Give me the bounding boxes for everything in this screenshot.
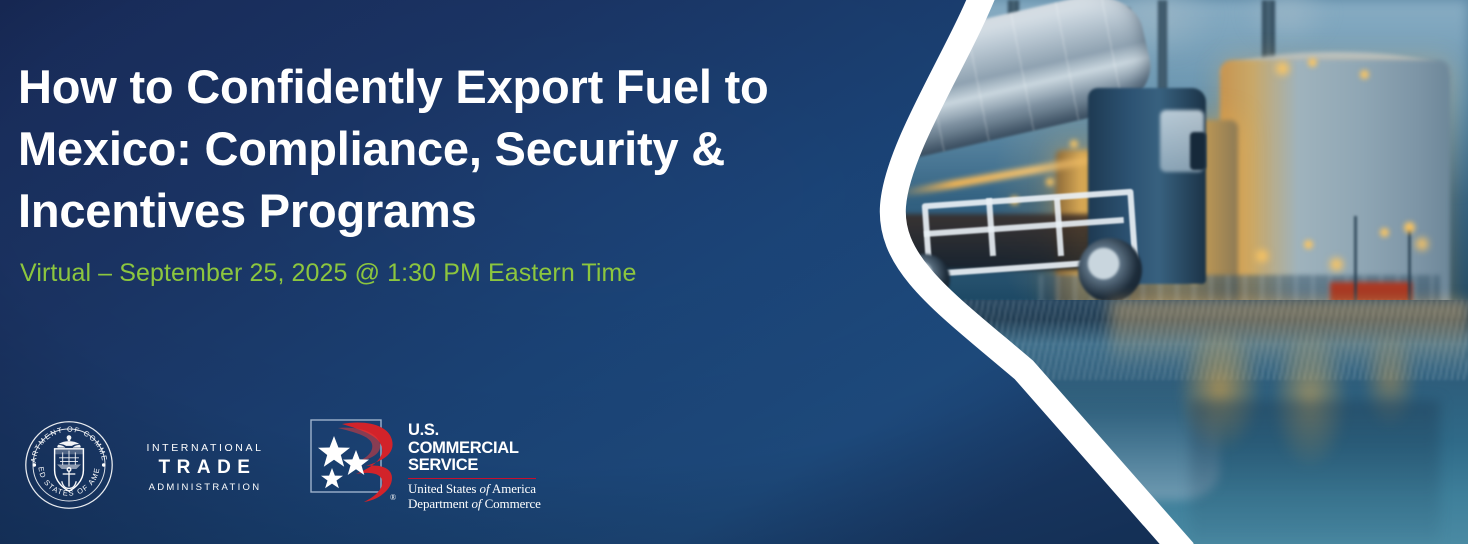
ita-line-international: INTERNATIONAL [140,440,270,456]
eagle-icon [57,435,80,447]
title-line-2: Mexico: Compliance, Security & [18,122,725,175]
truck-wheel [1078,238,1142,302]
department-of-commerce-seal-icon: DEPARTMENT OF COMMERCE UNITED STATES OF … [24,420,114,510]
refinery-light [1404,222,1415,233]
hero-photo [860,0,1468,544]
refinery-light [1416,238,1428,250]
light-pole [1408,228,1411,302]
uscs-tagline-country: United States of America [408,481,540,496]
uscs-line-service: SERVICE [408,457,540,475]
uscs-line-us: U.S. [408,422,540,440]
stars-icon [318,436,369,488]
event-datetime-subtitle: Virtual – September 25, 2025 @ 1:30 PM E… [20,257,636,289]
registered-mark: ® [390,493,396,502]
light-pole [1354,216,1357,302]
refinery-light [1360,70,1369,79]
tank-reflection [1190,400,1440,544]
uscs-wordmark: U.S. COMMERCIAL SERVICE United States of… [408,422,540,511]
refinery-light [1308,58,1317,67]
uscs-red-rule [408,478,536,479]
tagline-united-states: United States [408,481,480,496]
refinery-light [1070,140,1078,148]
refinery-light [1256,250,1268,262]
uscs-tagline-department: Department of Commerce [408,496,540,511]
ita-line-trade: TRADE [140,456,270,480]
refinery-light [1380,228,1389,237]
logo-lockup: DEPARTMENT OF COMMERCE UNITED STATES OF … [0,404,860,544]
truck-mirror [1190,132,1206,170]
tagline-of: of [480,481,490,496]
smoke-plume [1242,0,1332,48]
refinery-light [1330,258,1343,271]
tagline-commerce: Commerce [481,496,540,511]
anchor-icon [62,468,76,489]
refinery-light [1276,62,1289,75]
title-line-1: How to Confidently Export Fuel to [18,60,769,113]
uscs-line-commercial: COMMERCIAL [408,440,540,458]
international-trade-administration-logo: INTERNATIONAL TRADE ADMINISTRATION [140,440,270,495]
ita-line-administration: ADMINISTRATION [140,480,270,495]
title-line-3: Incentives Programs [18,184,477,237]
page-title: How to Confidently Export Fuel toMexico:… [18,56,878,242]
stars-and-swoosh-icon: ® [308,416,404,504]
truck-wheel [900,254,950,304]
refinery-light [1046,178,1054,186]
tagline-america: America [489,481,535,496]
smokestack [1158,0,1167,96]
tagline-of-2: of [472,496,482,511]
us-commercial-service-logo: ® U.S. COMMERCIAL SERVICE United States … [308,416,540,512]
tagline-department: Department [408,496,472,511]
webinar-banner: How to Confidently Export Fuel toMexico:… [0,0,1468,544]
refinery-light [1304,240,1313,249]
